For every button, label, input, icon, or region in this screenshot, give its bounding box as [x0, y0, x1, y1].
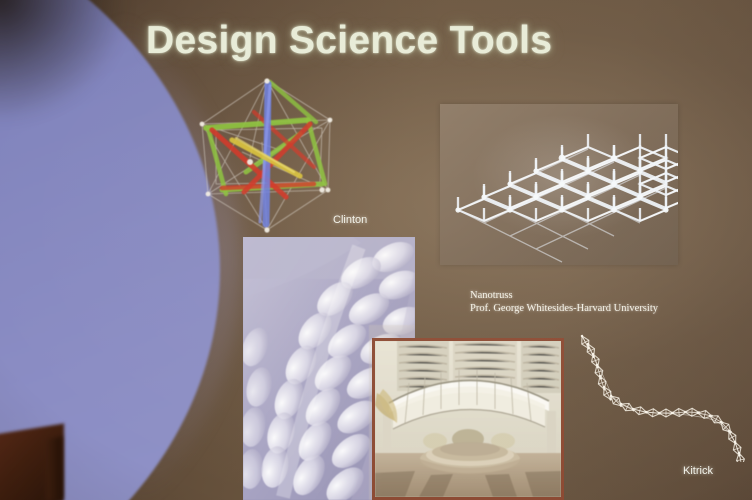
atrium-interior-photo [372, 338, 564, 500]
caption-nanotruss-credit: Prof. George Whitesides-Harvard Universi… [470, 302, 658, 315]
caption-kitrick: Kitrick [683, 465, 713, 477]
nanotruss-photo [440, 104, 678, 265]
projected-slide-photo: Design Science Tools [0, 0, 752, 500]
tensegrity-model-figure [182, 72, 352, 237]
kitrick-chain-figure [566, 330, 752, 462]
foreground-furniture-edge [46, 436, 62, 500]
caption-clinton: Clinton [333, 214, 367, 226]
caption-nanotruss-title: Nanotruss [470, 289, 513, 302]
slide-title: Design Science Tools [146, 19, 552, 63]
